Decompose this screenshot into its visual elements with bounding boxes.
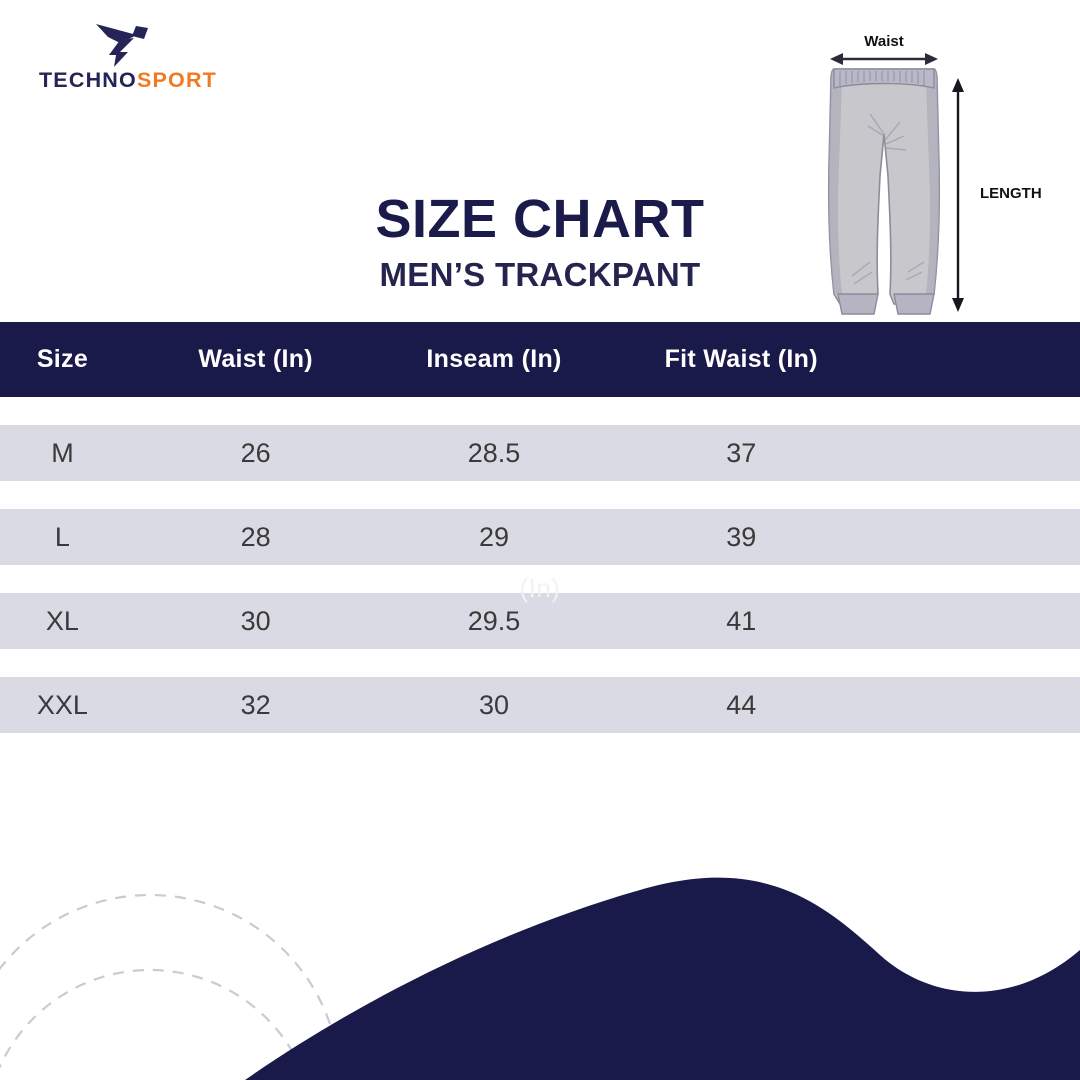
cell-inseam: 28.5 [386, 438, 601, 469]
unit-watermark: (In) [0, 573, 1080, 604]
cell-fit-waist: 44 [602, 690, 881, 721]
cell-size: XL [0, 606, 125, 637]
wave-shape [245, 878, 1080, 1080]
cell-inseam: 29.5 [386, 606, 601, 637]
brand-logo[interactable]: TECHNOSPORT [18, 22, 238, 100]
length-label: LENGTH [980, 185, 1042, 202]
running-athlete-icon [90, 22, 152, 68]
jogger-pant-graphic [829, 69, 940, 314]
column-header-size: Size [0, 345, 125, 374]
table-row[interactable]: XXL 32 30 44 [0, 677, 1080, 733]
column-header-fit-waist: Fit Waist (In) [602, 345, 881, 374]
table-header-row: Size Waist (In) Inseam (In) Fit Waist (I… [0, 322, 1080, 397]
cell-waist: 30 [125, 606, 387, 637]
column-header-inseam: Inseam (In) [386, 345, 601, 374]
row-spacer-top [0, 397, 1080, 425]
cell-waist: 28 [125, 522, 387, 553]
size-table: Size Waist (In) Inseam (In) Fit Waist (I… [0, 322, 1080, 733]
dashed-arc-inner [0, 970, 315, 1080]
waist-measure-arrow [830, 53, 938, 65]
brand-name-secondary: SPORT [137, 68, 217, 92]
table-row[interactable]: M 26 28.5 37 [0, 425, 1080, 481]
dashed-arc-outer [0, 895, 340, 1080]
dashed-arc-group [0, 895, 340, 1080]
size-chart-page: TECHNOSPORT SIZE CHART MEN’S TRACKPANT W… [0, 0, 1080, 1080]
waist-label: Waist [864, 33, 903, 50]
cell-inseam: 29 [386, 522, 601, 553]
row-spacer [0, 481, 1080, 509]
brand-wordmark: TECHNOSPORT [18, 68, 238, 93]
column-header-waist: Waist (In) [125, 345, 387, 374]
row-spacer [0, 649, 1080, 677]
cell-fit-waist: 39 [602, 522, 881, 553]
cell-waist: 32 [125, 690, 387, 721]
cell-waist: 26 [125, 438, 387, 469]
table-body: M 26 28.5 37 L 28 29 39 XL 30 29.5 41 [0, 397, 1080, 733]
cell-fit-waist: 37 [602, 438, 881, 469]
table-row[interactable]: L 28 29 39 [0, 509, 1080, 565]
cell-size: L [0, 522, 125, 553]
brand-name-primary: TECHNO [39, 68, 137, 92]
cell-fit-waist: 41 [602, 606, 881, 637]
cell-size: XXL [0, 690, 125, 721]
cell-inseam: 30 [386, 690, 601, 721]
cell-size: M [0, 438, 125, 469]
length-measure-arrow [952, 78, 964, 312]
trackpant-illustration: Waist [812, 26, 1080, 322]
